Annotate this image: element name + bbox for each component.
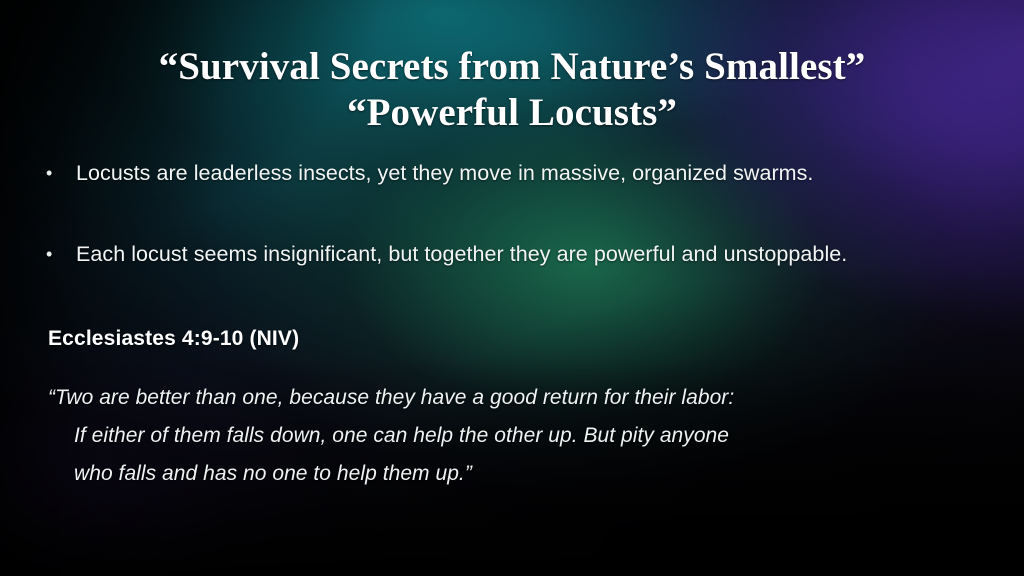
slide-content: “Survival Secrets from Nature’s Smallest… <box>0 0 1024 576</box>
slide-title-line-1: “Survival Secrets from Nature’s Smallest… <box>0 44 1024 90</box>
bullet-item-2-text: Each locust seems insignificant, but tog… <box>76 233 951 276</box>
scripture-reference: Ecclesiastes 4:9-10 (NIV) <box>48 327 299 351</box>
bullet-point-icon: • <box>46 152 76 195</box>
bullet-list: • Locusts are leaderless insects, yet th… <box>46 152 951 314</box>
scripture-quote-line-3: who falls and has no one to help them up… <box>48 455 968 493</box>
bullet-item-1-text: Locusts are leaderless insects, yet they… <box>76 152 951 195</box>
scripture-quote-line-1: “Two are better than one, because they h… <box>48 379 968 417</box>
slide-title: “Survival Secrets from Nature’s Smallest… <box>0 44 1024 136</box>
scripture-quote: “Two are better than one, because they h… <box>48 379 968 493</box>
scripture-quote-line-2: If either of them falls down, one can he… <box>48 417 968 455</box>
slide-title-line-2: “Powerful Locusts” <box>0 90 1024 136</box>
presentation-slide: “Survival Secrets from Nature’s Smallest… <box>0 0 1024 576</box>
bullet-item-2: • Each locust seems insignificant, but t… <box>46 233 951 276</box>
bullet-item-1: • Locusts are leaderless insects, yet th… <box>46 152 951 195</box>
bullet-point-icon: • <box>46 233 76 276</box>
